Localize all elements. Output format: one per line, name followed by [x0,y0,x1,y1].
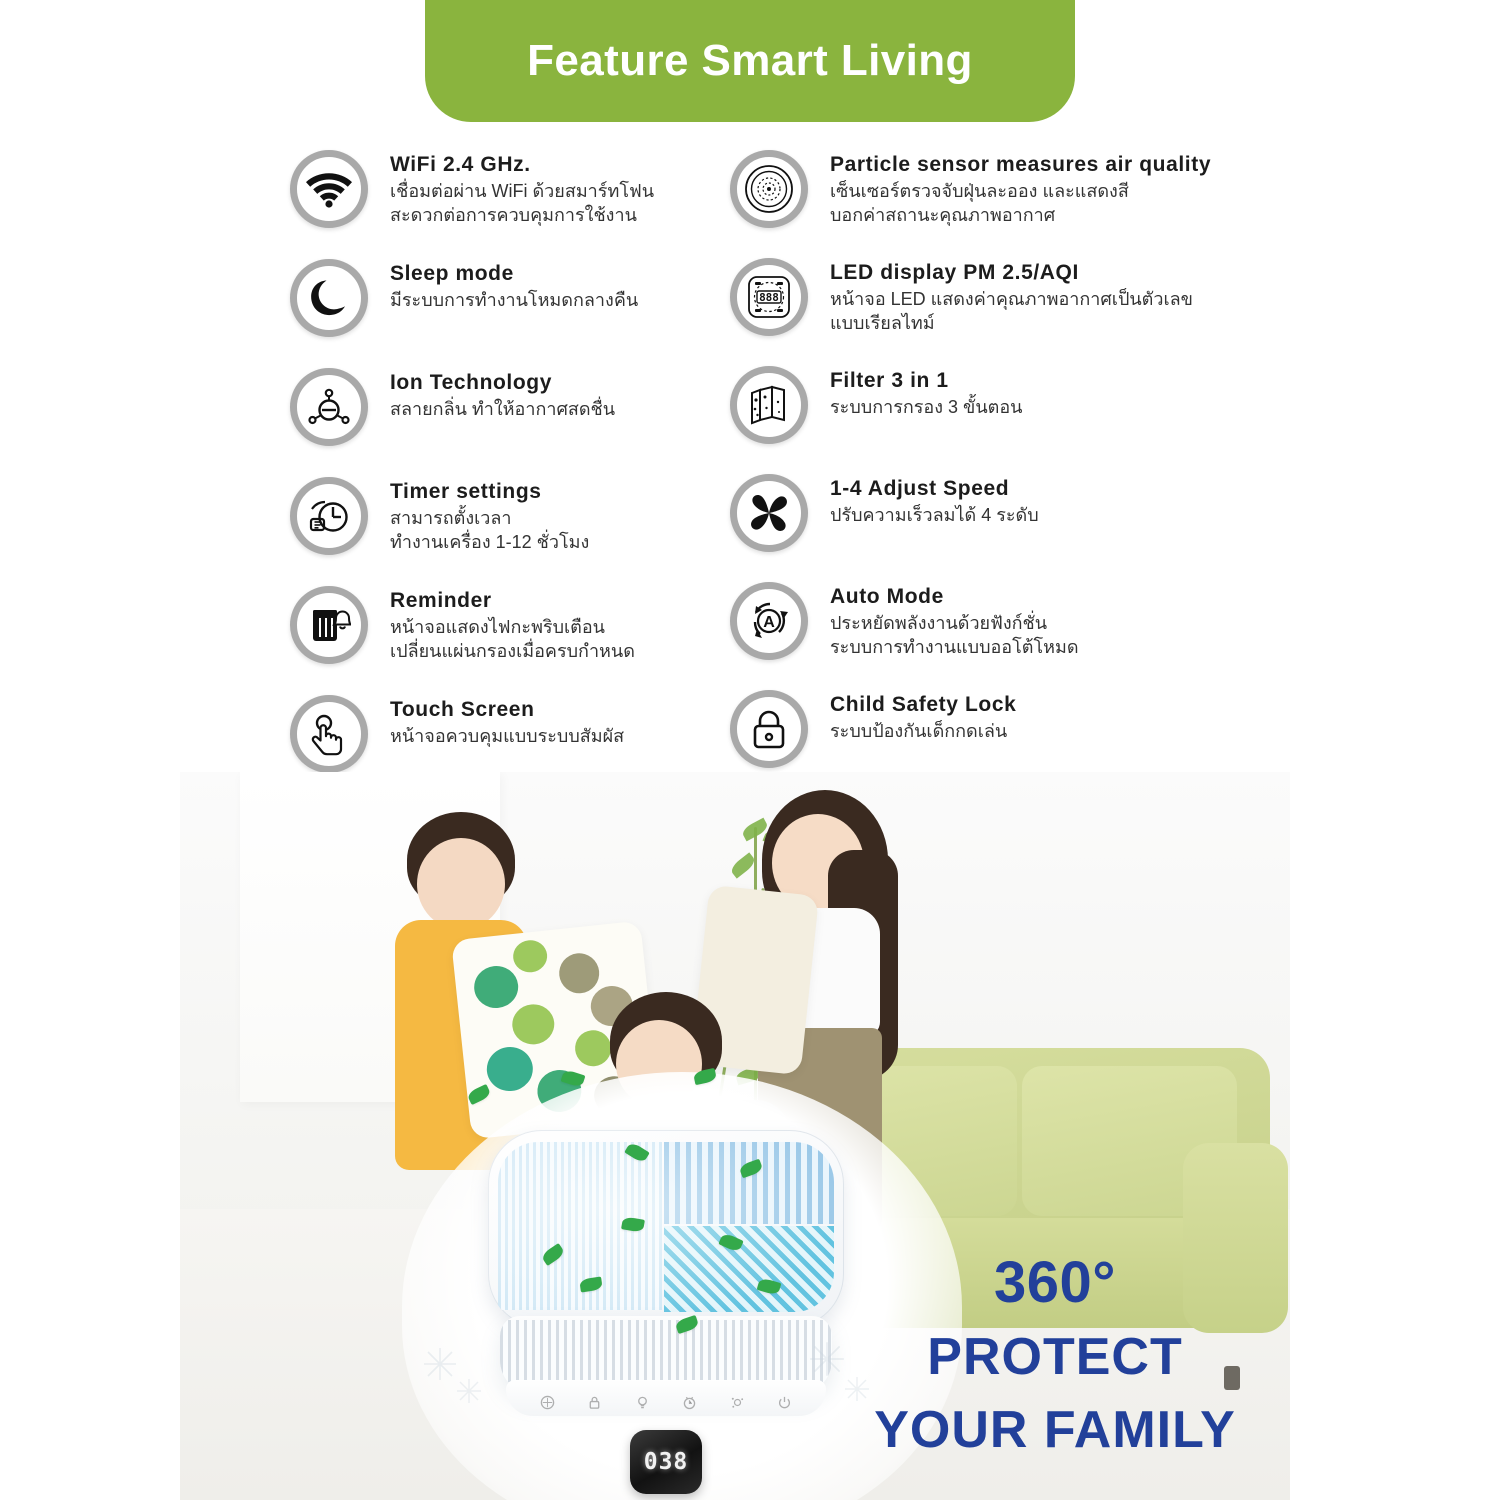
touch-screen-icon [290,695,368,773]
filter-layers-icon [730,366,808,444]
feature-column-right: Particle sensor measures air quality เซ็… [730,148,1210,798]
feature-filter-3-in-1: Filter 3 in 1 ระบบการกรอง 3 ขั้นตอน [730,364,1210,472]
feature-title: Particle sensor measures air quality [830,152,1211,178]
feature-desc-line1: หน้าจอแสดงไฟกะพริบเตือน [390,616,635,640]
feature-text: Reminder หน้าจอแสดงไฟกะพริบเตือน เปลี่ยน… [390,584,635,664]
feature-desc-line1: หน้าจอ LED แสดงค่าคุณภาพอากาศเป็นตัวเลข [830,288,1193,312]
tagline-360: 360° [845,1250,1265,1316]
light-icon[interactable] [635,1395,650,1410]
feature-desc-line2: ระบบการทำงานแบบออโต้โหมด [830,636,1079,660]
feature-wifi: WiFi 2.4 GHz. เชื่อมต่อผ่าน WiFi ด้วยสมา… [290,148,740,257]
feature-title: Child Safety Lock [830,692,1016,718]
feature-text: Touch Screen หน้าจอควบคุมแบบระบบสัมผัส [390,693,624,749]
moon-icon [290,259,368,337]
fan-speed-icon [730,474,808,552]
feature-desc-line1: เซ็นเซอร์ตรวจจับฝุ่นละออง และแสดงสี [830,180,1211,204]
feature-text: WiFi 2.4 GHz. เชื่อมต่อผ่าน WiFi ด้วยสมา… [390,148,654,228]
feature-text: Sleep mode มีระบบการทำงานโหมดกลางคืน [390,257,638,313]
feature-desc-line1: เชื่อมต่อผ่าน WiFi ด้วยสมาร์ทโฟน [390,180,654,204]
feature-title: Sleep mode [390,261,638,287]
header-banner: Feature Smart Living [425,0,1075,122]
purifier-led-display: 038 [630,1430,702,1494]
feature-desc-line2: เปลี่ยนแผ่นกรองเมื่อครบกำหนด [390,640,635,664]
particle-sensor-icon [730,150,808,228]
feature-auto-mode: A Auto Mode ประหยัดพลังงานด้วยฟังก์ชั่น … [730,580,1210,688]
tagline-block: 360° PROTECT YOUR FAMILY [845,1250,1265,1461]
feature-title: Ion Technology [390,370,615,396]
feature-desc-line2: ทำงานเครื่อง 1-12 ชั่วโมง [390,531,589,555]
filter-status-icon[interactable] [540,1395,555,1410]
feature-text: Ion Technology สลายกลิ่น ทำให้อากาศสดชื่… [390,366,615,422]
wifi-icon [290,150,368,228]
feature-text: Auto Mode ประหยัดพลังงานด้วยฟังก์ชั่น ระ… [830,580,1079,660]
feature-desc-line2: แบบเรียลไทม์ [830,312,1193,336]
power-icon[interactable] [777,1395,792,1410]
feature-title: Auto Mode [830,584,1079,610]
feature-grid: WiFi 2.4 GHz. เชื่อมต่อผ่าน WiFi ด้วยสมา… [0,148,1500,798]
feature-desc-line2: บอกค่าสถานะคุณภาพอากาศ [830,204,1211,228]
feature-desc-line1: สามารถตั้งเวลา [390,507,589,531]
ionizer-icon[interactable] [730,1395,745,1410]
feature-title: Filter 3 in 1 [830,368,1022,394]
feature-desc-line1: สลายกลิ่น ทำให้อากาศสดชื่น [390,398,615,422]
snowflake-decor [454,1376,484,1406]
infographic-page: Feature Smart Living WiFi 2.4 GHz. เชื่อ… [0,0,1500,1500]
feature-reminder: Reminder หน้าจอแสดงไฟกะพริบเตือน เปลี่ยน… [290,584,740,693]
feature-particle-sensor: Particle sensor measures air quality เซ็… [730,148,1210,256]
child-lock-icon [730,690,808,768]
feature-title: Timer settings [390,479,589,505]
feature-timer-settings: Timer settings สามารถตั้งเวลา ทำงานเครื่… [290,475,740,584]
feature-title: Reminder [390,588,635,614]
air-purifier: 038 [480,1130,852,1430]
feature-title: Touch Screen [390,697,624,723]
feature-led-display: 888 LED display PM 2.5/AQI หน้าจอ LED แส… [730,256,1210,364]
tagline-your-family: YOUR FAMILY [845,1401,1265,1460]
feature-column-left: WiFi 2.4 GHz. เชื่อมต่อผ่าน WiFi ด้วยสมา… [290,148,740,798]
feature-sleep-mode: Sleep mode มีระบบการทำงานโหมดกลางคืน [290,257,740,366]
timer-icon [290,477,368,555]
svg-text:A: A [763,614,775,631]
feature-text: Timer settings สามารถตั้งเวลา ทำงานเครื่… [390,475,589,555]
feature-ion-technology: Ion Technology สลายกลิ่น ทำให้อากาศสดชื่… [290,366,740,475]
feature-text: LED display PM 2.5/AQI หน้าจอ LED แสดงค่… [830,256,1193,336]
feature-desc-line1: ระบบป้องกันเด็กกดเล่น [830,720,1016,744]
child-lock-icon[interactable] [587,1395,602,1410]
purifier-control-panel[interactable] [540,1392,792,1412]
feature-desc-line1: หน้าจอควบคุมแบบระบบสัมผัส [390,725,624,749]
feature-title: LED display PM 2.5/AQI [830,260,1193,286]
led-display-icon: 888 [730,258,808,336]
feature-desc-line1: ปรับความเร็วลมได้ 4 ระดับ [830,504,1039,528]
feature-adjust-speed: 1-4 Adjust Speed ปรับความเร็วลมได้ 4 ระด… [730,472,1210,580]
tagline-protect: PROTECT [845,1328,1265,1387]
feature-text: Particle sensor measures air quality เซ็… [830,148,1211,228]
filter-reminder-icon [290,586,368,664]
feature-text: Filter 3 in 1 ระบบการกรอง 3 ขั้นตอน [830,364,1022,420]
feature-text: 1-4 Adjust Speed ปรับความเร็วลมได้ 4 ระด… [830,472,1039,528]
auto-mode-icon: A [730,582,808,660]
page-title: Feature Smart Living [527,36,973,86]
feature-title: 1-4 Adjust Speed [830,476,1039,502]
timer-icon[interactable] [682,1395,697,1410]
purifier-top-grille [488,1130,844,1328]
svg-text:888: 888 [759,291,779,304]
feature-desc-line1: ประหยัดพลังงานด้วยฟังก์ชั่น [830,612,1079,636]
feature-title: WiFi 2.4 GHz. [390,152,654,178]
feature-desc-line1: ระบบการกรอง 3 ขั้นตอน [830,396,1022,420]
ion-icon [290,368,368,446]
feature-desc-line1: มีระบบการทำงานโหมดกลางคืน [390,289,638,313]
feature-text: Child Safety Lock ระบบป้องกันเด็กกดเล่น [830,688,1016,744]
aqi-value: 038 [644,1449,689,1475]
feature-desc-line2: สะดวกต่อการควบคุมการใช้งาน [390,204,654,228]
